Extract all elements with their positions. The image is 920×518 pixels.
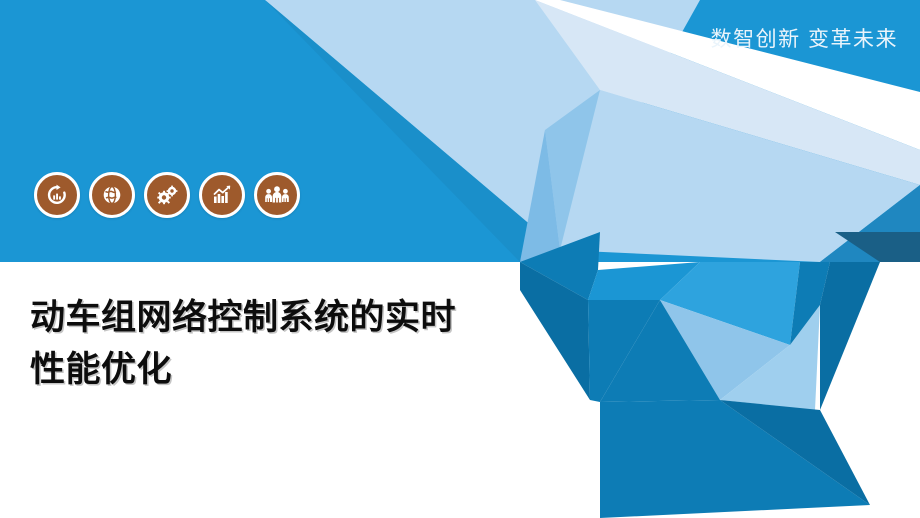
icon-badge-gears[interactable] (144, 172, 190, 218)
title-block: 动车组网络控制系统的实时 性能优化 (30, 292, 570, 396)
icon-badge-team[interactable] (254, 172, 300, 218)
bar-chart-icon (210, 183, 234, 207)
icon-badge-chart[interactable] (199, 172, 245, 218)
slide-tagline: 数智创新 变革未来 (711, 27, 898, 52)
icon-badge-growth[interactable] (34, 172, 80, 218)
growth-arrow-icon (45, 183, 69, 207)
polygon-lower-j (820, 262, 880, 410)
team-people-icon (264, 183, 290, 207)
page-title-line-1: 动车组网络控制系统的实时 (30, 292, 570, 344)
icon-badge-globe[interactable] (89, 172, 135, 218)
title-slide: 数智创新 变革未来 (0, 0, 920, 518)
globe-icon (100, 183, 124, 207)
icon-badge-row (34, 172, 300, 218)
page-title-line-2: 性能优化 (30, 344, 570, 396)
polygon-background-graphic (0, 0, 920, 518)
gears-icon (155, 183, 180, 208)
